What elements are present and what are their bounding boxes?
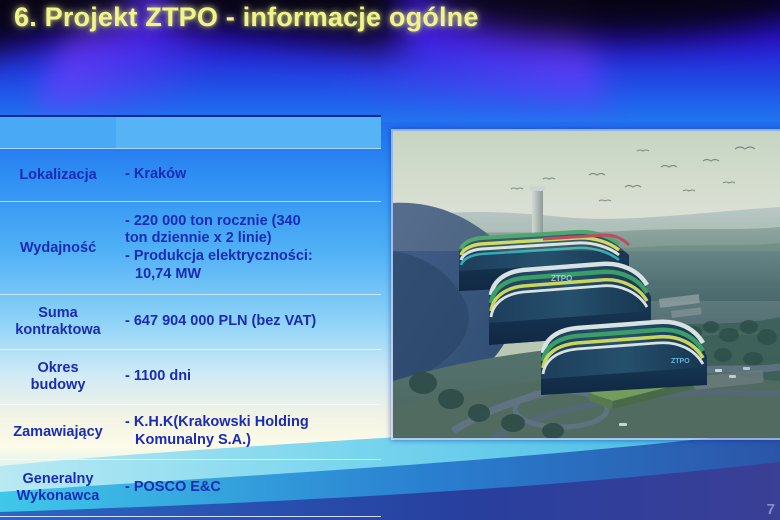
table-header-cell-value (116, 116, 381, 149)
row-label-generalny-wykonawca: Generalny Wykonawca (0, 460, 116, 517)
label-line: budowy (3, 377, 113, 394)
plant-rendering-svg: ZTPO ZTPO (393, 131, 780, 438)
value-line: - 647 904 000 PLN (bez VAT) (125, 313, 375, 331)
table-row: Lokalizacja - Kraków (0, 149, 381, 202)
projector-haze (393, 131, 780, 251)
plant-rendering-image: ZTPO ZTPO (393, 131, 780, 438)
row-value-okres-budowy: - 1100 dni (116, 350, 381, 405)
row-value-lokalizacja: - Kraków (116, 149, 381, 202)
row-value-generalny-wykonawca: - POSCO E&C (116, 460, 381, 517)
row-label-suma-kontraktowa: Suma kontraktowa (0, 295, 116, 350)
table-row: Wydajność - 220 000 ton rocznie (340 ton… (0, 202, 381, 295)
row-label-okres-budowy: Okres budowy (0, 350, 116, 405)
value-line: - K.H.K(Krakowski Holding (125, 414, 375, 432)
page-number: 7 (767, 501, 775, 518)
table-row: Generalny Wykonawca - POSCO E&C (0, 460, 381, 517)
value-line: 10,74 MW (125, 266, 375, 284)
label-line: Wykonawca (3, 488, 113, 505)
table-header-cell-label (0, 116, 116, 149)
info-table-container: Lokalizacja - Kraków Wydajność - 220 000… (0, 115, 381, 517)
row-label-lokalizacja: Lokalizacja (0, 149, 116, 202)
table-row: Suma kontraktowa - 647 904 000 PLN (bez … (0, 295, 381, 350)
row-value-zamawiajacy: - K.H.K(Krakowski Holding Komunalny S.A.… (116, 405, 381, 460)
table-row: Okres budowy - 1100 dni (0, 350, 381, 405)
value-line: ton dziennie x 2 linie) (125, 230, 375, 248)
value-line: Komunalny S.A.) (125, 432, 375, 450)
table-header-row (0, 116, 381, 149)
page-title: 6. Projekt ZTPO - informacje ogólne (14, 2, 479, 33)
value-line: - POSCO E&C (125, 479, 375, 497)
row-label-zamawiajacy: Zamawiający (0, 405, 116, 460)
value-line: - Kraków (125, 166, 375, 184)
value-line: - 1100 dni (125, 368, 375, 386)
label-line: Generalny (3, 471, 113, 488)
label-line: Suma (3, 305, 113, 322)
row-value-suma-kontraktowa: - 647 904 000 PLN (bez VAT) (116, 295, 381, 350)
label-line: kontraktowa (3, 322, 113, 339)
slide: 6. Projekt ZTPO - informacje ogólne Loka… (0, 0, 780, 520)
value-line: - 220 000 ton rocznie (340 (125, 213, 375, 231)
row-value-wydajnosc: - 220 000 ton rocznie (340 ton dziennie … (116, 202, 381, 295)
row-label-wydajnosc: Wydajność (0, 202, 116, 295)
info-table: Lokalizacja - Kraków Wydajność - 220 000… (0, 115, 381, 517)
table-row: Zamawiający - K.H.K(Krakowski Holding Ko… (0, 405, 381, 460)
label-line: Okres (3, 360, 113, 377)
value-line: - Produkcja elektryczności: (125, 248, 375, 266)
